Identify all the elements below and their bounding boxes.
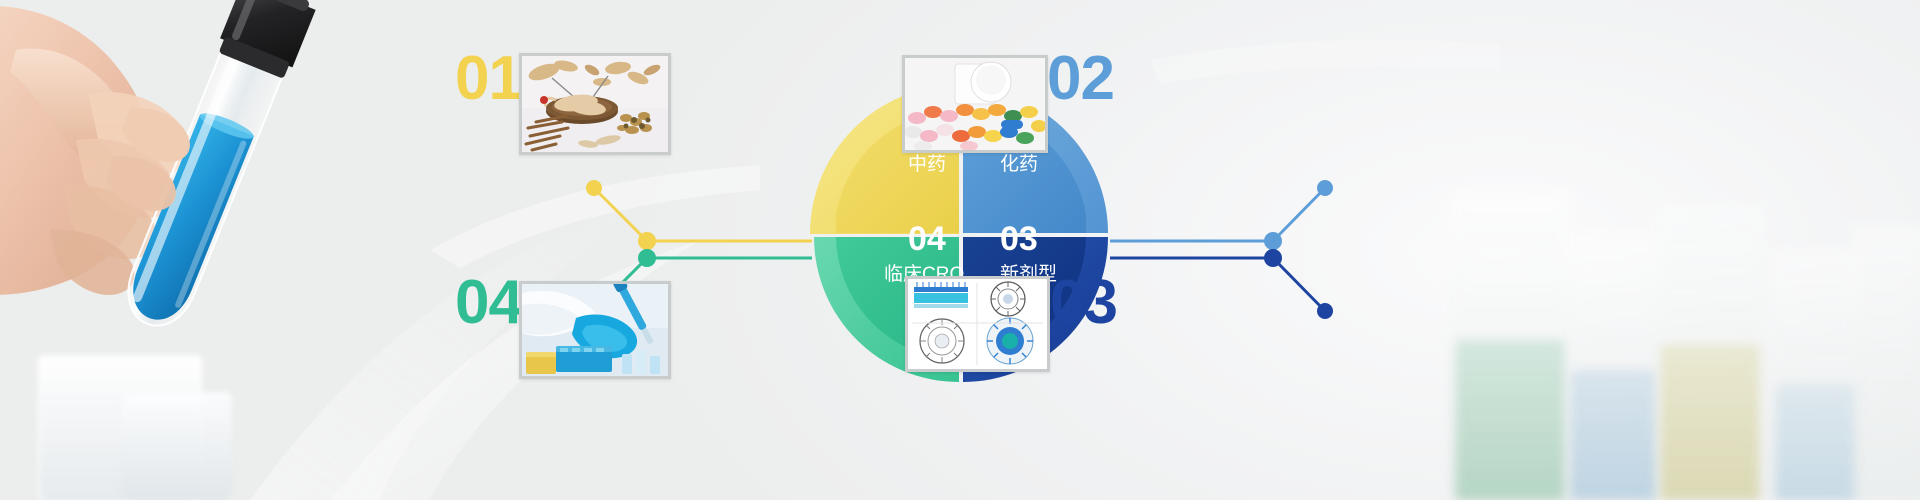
wheel-label-03: 03 新剂型 xyxy=(1000,222,1057,284)
connector-dot-03-end xyxy=(1317,303,1333,319)
connector-03 xyxy=(1110,249,1333,319)
infographic-stage: 01 中药 02 化药 03 新剂型 04 临床CRO 01 02 03 04 xyxy=(0,0,1920,500)
connector-dot-04-bend xyxy=(638,249,656,267)
connector-02 xyxy=(1110,180,1333,250)
callout-number-01: 01 xyxy=(455,48,522,110)
connector-01 xyxy=(586,180,812,250)
connector-dot-01-bend xyxy=(638,232,656,250)
callout-number-03: 03 xyxy=(1050,272,1117,334)
connector-dot-02-bend xyxy=(1264,232,1282,250)
wheel-label-04: 04 临床CRO xyxy=(884,222,964,284)
wheel-text-02: 化药 xyxy=(1000,155,1038,174)
connector-dot-01-end xyxy=(586,180,602,196)
connector-dot-03-bend xyxy=(1264,249,1282,267)
connector-dot-02-end xyxy=(1317,180,1333,196)
thumbnail-pills[interactable] xyxy=(902,55,1048,153)
wheel-number-03: 03 xyxy=(1000,222,1057,256)
callout-number-02: 02 xyxy=(1047,48,1114,110)
wheel-text-01: 中药 xyxy=(908,155,946,174)
callout-number-04: 04 xyxy=(455,272,522,334)
wheel-number-04: 04 xyxy=(908,222,964,256)
thumbnail-new-dosage-form[interactable] xyxy=(905,276,1050,372)
thumbnail-clinical-cro[interactable] xyxy=(519,281,671,379)
thumbnail-herbal-medicine[interactable] xyxy=(519,53,671,155)
